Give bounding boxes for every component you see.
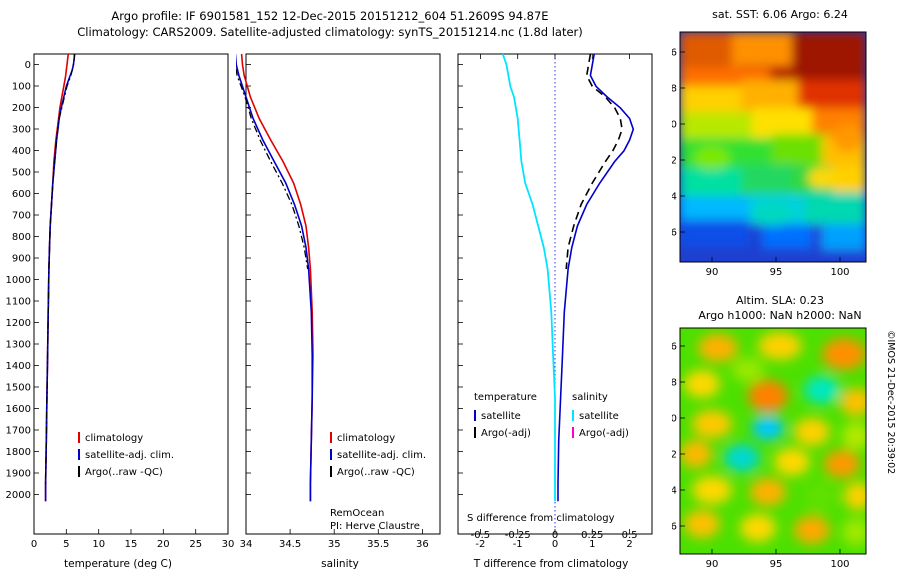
salinity-difference-ticklabels: -0.5-0.250 0.250.5 — [444, 528, 658, 542]
salinity-xlabel: salinity — [236, 558, 444, 570]
legend-group-salinity: salinity — [572, 392, 648, 403]
legend-swatch-cyan — [572, 410, 574, 421]
svg-text:-46: -46 — [672, 342, 677, 353]
svg-text:500: 500 — [12, 168, 31, 179]
svg-text:-46: -46 — [672, 48, 677, 59]
pi-label: PI: Herve Claustre — [330, 521, 420, 532]
copyright-text: ©IMOS 21-Dec-2015 20:39:02 — [885, 330, 896, 474]
svg-text:1500: 1500 — [6, 383, 31, 394]
svg-text:-50: -50 — [672, 414, 677, 425]
sla-map-title-line2: Argo h1000: NaN h2000: NaN — [660, 309, 900, 322]
svg-text:0: 0 — [31, 539, 37, 550]
svg-text:15: 15 — [125, 539, 138, 550]
svg-text:-48: -48 — [672, 84, 677, 95]
svg-text:700: 700 — [12, 211, 31, 222]
legend-item-climatology: climatology — [78, 432, 174, 444]
svg-text:-0.5: -0.5 — [471, 530, 491, 541]
difference-legend: temperature satellite Argo(-adj) salinit… — [474, 392, 654, 439]
sst-map: -46-48-50 -52-54-56 9095100 — [672, 28, 900, 288]
salinity-legend: climatology satellite-adj. clim. Argo(..… — [330, 432, 426, 478]
svg-text:-56: -56 — [672, 228, 677, 239]
legend-item-temperature-satellite: satellite — [474, 410, 550, 422]
svg-text:400: 400 — [12, 146, 31, 157]
sst-map-image — [680, 32, 866, 264]
salinity-difference-xlabel: S difference from climatology — [467, 513, 614, 524]
legend-item-climatology-salinity: climatology — [330, 432, 426, 444]
salinity-climatology-curve — [242, 54, 313, 501]
svg-text:10: 10 — [92, 539, 105, 550]
legend-swatch-blue — [474, 410, 476, 421]
svg-text:1200: 1200 — [6, 318, 31, 329]
svg-text:34.5: 34.5 — [279, 539, 301, 550]
sla-map-title-line1: Altim. SLA: 0.23 — [660, 294, 900, 307]
svg-text:95: 95 — [770, 559, 783, 570]
svg-text:1400: 1400 — [6, 361, 31, 372]
legend-item-satellite-adj-salinity: satellite-adj. clim. — [330, 449, 426, 461]
svg-text:-50: -50 — [672, 120, 677, 131]
svg-text:600: 600 — [12, 189, 31, 200]
svg-text:-0.25: -0.25 — [505, 530, 531, 541]
svg-text:-54: -54 — [672, 486, 677, 497]
svg-text:1900: 1900 — [6, 469, 31, 480]
legend-swatch-red — [330, 432, 332, 443]
legend-swatch-black — [78, 466, 80, 477]
copyright-label: ©IMOS 21-Dec-2015 20:39:02 — [896, 330, 900, 341]
svg-text:1600: 1600 — [6, 404, 31, 415]
svg-text:1100: 1100 — [6, 297, 31, 308]
legend-group-temperature: temperature — [474, 392, 550, 403]
panel-temperature: 0100200 300400500 600700800 90010001100 … — [0, 40, 236, 580]
svg-text:34: 34 — [240, 539, 253, 550]
temperature-satellite-adj-curve — [46, 54, 75, 501]
svg-text:90: 90 — [706, 267, 719, 278]
legend-item-satellite-adj: satellite-adj. clim. — [78, 449, 174, 461]
svg-text:95: 95 — [770, 267, 783, 278]
svg-text:-54: -54 — [672, 192, 677, 203]
legend-item-salinity-satellite: satellite — [572, 410, 648, 422]
panel-salinity: 3434.535 35.536 — [236, 40, 444, 580]
svg-text:0.25: 0.25 — [581, 530, 603, 541]
svg-text:90: 90 — [706, 559, 719, 570]
legend-swatch-black — [330, 466, 332, 477]
svg-text:900: 900 — [12, 254, 31, 265]
svg-text:35: 35 — [328, 539, 341, 550]
temperature-legend: climatology satellite-adj. clim. Argo(..… — [78, 432, 174, 478]
panel-difference: -2-10 12 — [444, 40, 658, 580]
legend-swatch-magenta — [572, 427, 574, 438]
legend-swatch-blue — [330, 449, 332, 460]
svg-text:300: 300 — [12, 125, 31, 136]
legend-swatch-black — [474, 427, 476, 438]
svg-text:1300: 1300 — [6, 340, 31, 351]
salinity-satellite-adj-curve — [236, 54, 312, 501]
svg-text:-48: -48 — [672, 378, 677, 389]
svg-text:1000: 1000 — [6, 275, 31, 286]
header-line-2: Climatology: CARS2009. Satellite-adjuste… — [0, 25, 660, 39]
remocean-label: RemOcean — [330, 508, 384, 519]
svg-text:35.5: 35.5 — [367, 539, 389, 550]
svg-text:2000: 2000 — [6, 490, 31, 501]
sla-map: -46-48-50 -52-54-56 9095100 — [672, 324, 900, 580]
legend-item-argo-salinity: Argo(..raw -QC) — [330, 466, 426, 478]
svg-text:200: 200 — [12, 103, 31, 114]
svg-text:36: 36 — [416, 539, 429, 550]
temperature-xlabel: temperature (deg C) — [0, 558, 236, 570]
svg-text:20: 20 — [157, 539, 170, 550]
svg-text:5: 5 — [63, 539, 69, 550]
legend-item-salinity-argo: Argo(-adj) — [572, 427, 648, 439]
svg-text:1800: 1800 — [6, 447, 31, 458]
svg-text:0: 0 — [552, 530, 558, 541]
svg-text:30: 30 — [222, 539, 235, 550]
svg-text:-52: -52 — [672, 156, 677, 167]
svg-text:100: 100 — [830, 267, 849, 278]
svg-text:100: 100 — [12, 82, 31, 93]
sla-map-image — [680, 328, 872, 554]
svg-text:1700: 1700 — [6, 426, 31, 437]
legend-item-argo: Argo(..raw -QC) — [78, 466, 174, 478]
svg-text:0: 0 — [25, 60, 31, 71]
svg-text:25: 25 — [189, 539, 202, 550]
sst-map-title: sat. SST: 6.06 Argo: 6.24 — [660, 8, 900, 21]
svg-text:800: 800 — [12, 232, 31, 243]
header-line-1: Argo profile: IF 6901581_152 12-Dec-2015… — [0, 9, 660, 23]
svg-text:-56: -56 — [672, 522, 677, 533]
temperature-difference-xlabel: T difference from climatology — [444, 558, 658, 570]
svg-text:0.5: 0.5 — [622, 530, 638, 541]
svg-text:100: 100 — [830, 559, 849, 570]
legend-swatch-red — [78, 432, 80, 443]
svg-text:-52: -52 — [672, 450, 677, 461]
legend-swatch-blue — [78, 449, 80, 460]
legend-item-temperature-argo: Argo(-adj) — [474, 427, 550, 439]
